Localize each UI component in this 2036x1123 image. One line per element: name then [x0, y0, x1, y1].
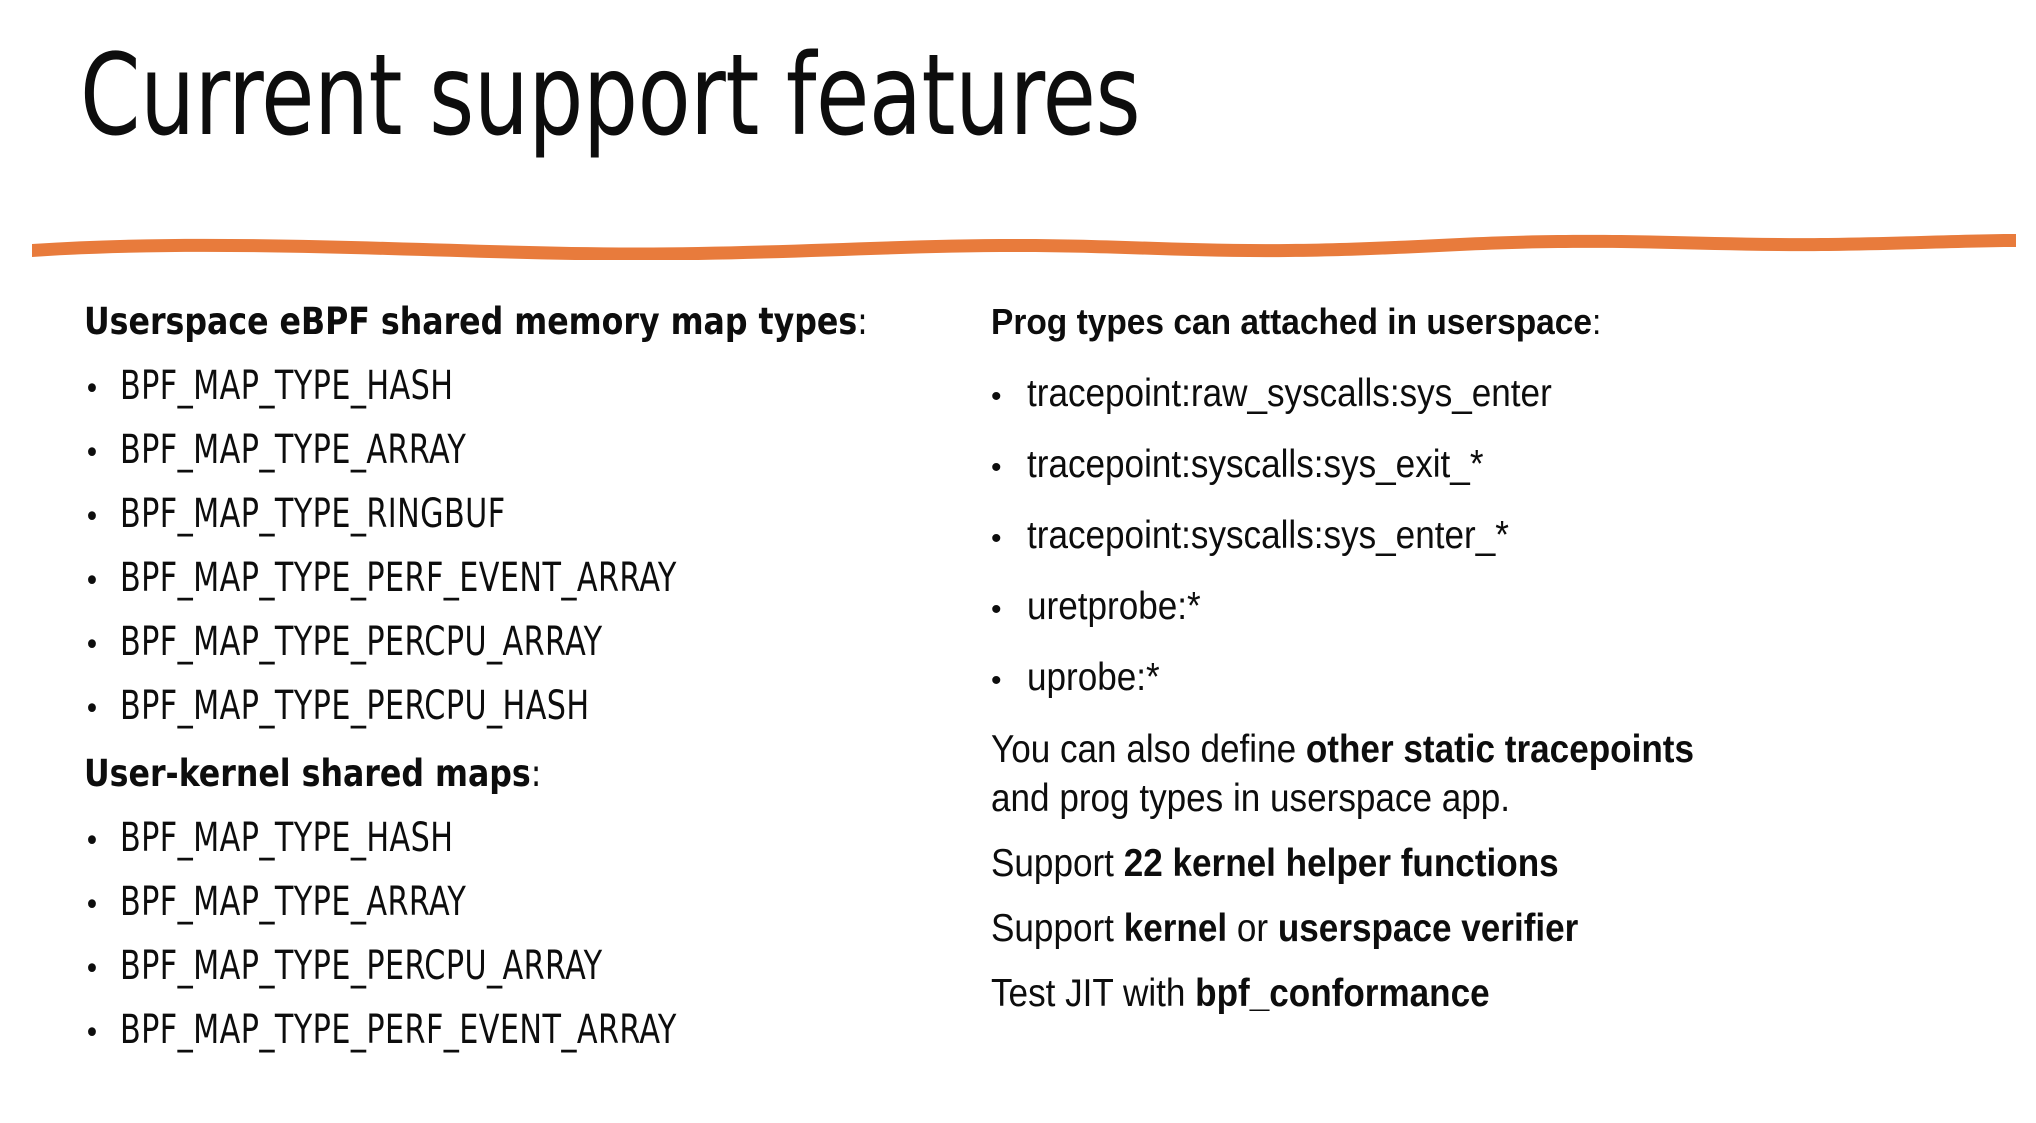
left-section-heading-1-text: Userspace eBPF shared memory map types: [84, 300, 857, 343]
body-text: Support: [991, 907, 1124, 950]
paragraph-static-tracepoints: You can also define other static tracepo…: [991, 725, 1751, 823]
list-item: • BPF_MAP_TYPE_HASH: [84, 354, 944, 418]
emphasis-text: userspace verifier: [1278, 907, 1579, 950]
list-item-label: BPF_MAP_TYPE_PERCPU_ARRAY: [120, 934, 602, 998]
slide-canvas: Current support features Userspace eBPF …: [0, 0, 2036, 1123]
paragraph-text: Test JIT with bpf_conformance: [991, 969, 1752, 1018]
paragraph-text: Support 22 kernel helper functions: [991, 839, 1752, 888]
list-item: • uretprobe:*: [991, 571, 1781, 642]
list-item-label: BPF_MAP_TYPE_PERF_EVENT_ARRAY: [120, 998, 677, 1062]
right-content-column: Prog types can attached in userspace: • …: [991, 300, 1781, 1018]
list-item-label: BPF_MAP_TYPE_HASH: [120, 354, 453, 418]
list-item-label: BPF_MAP_TYPE_ARRAY: [120, 418, 466, 482]
bullet-dot-icon: •: [84, 439, 120, 469]
emphasis-text: other static tracepoints: [1306, 728, 1694, 771]
paragraph-text: Support kernel or userspace verifier: [991, 904, 1752, 953]
bullet-dot-icon: •: [84, 827, 120, 857]
left-content-column: Userspace eBPF shared memory map types: …: [84, 300, 944, 1062]
list-item-label: tracepoint:raw_syscalls:sys_enter: [1027, 358, 1552, 429]
list-item: • BPF_MAP_TYPE_RINGBUF: [84, 482, 944, 546]
left-section-heading-2-colon: :: [531, 752, 542, 795]
list-item-label: BPF_MAP_TYPE_RINGBUF: [120, 482, 506, 546]
list-item: • uprobe:*: [991, 642, 1781, 713]
page-title: Current support features: [80, 34, 1714, 159]
list-item: • tracepoint:raw_syscalls:sys_enter: [991, 358, 1781, 429]
bullet-dot-icon: •: [991, 453, 1027, 483]
body-text: or: [1227, 907, 1278, 950]
right-section-heading: Prog types can attached in userspace:: [991, 300, 1726, 344]
list-item: • BPF_MAP_TYPE_ARRAY: [84, 870, 944, 934]
bullet-dot-icon: •: [991, 382, 1027, 412]
bullet-dot-icon: •: [84, 891, 120, 921]
list-item: • BPF_MAP_TYPE_ARRAY: [84, 418, 944, 482]
list-item-label: tracepoint:syscalls:sys_exit_*: [1027, 429, 1483, 500]
list-item-label: BPF_MAP_TYPE_PERCPU_HASH: [120, 674, 590, 738]
list-item-label: tracepoint:syscalls:sys_enter_*: [1027, 500, 1509, 571]
bullet-dot-icon: •: [991, 595, 1027, 625]
list-item-label: BPF_MAP_TYPE_ARRAY: [120, 870, 466, 934]
paragraph-text: You can also define other static tracepo…: [991, 725, 1752, 823]
emphasis-text: bpf_conformance: [1195, 972, 1489, 1015]
right-section-heading-colon: :: [1592, 301, 1601, 342]
list-item-label: uretprobe:*: [1027, 571, 1201, 642]
list-item: • BPF_MAP_TYPE_PERF_EVENT_ARRAY: [84, 546, 944, 610]
list-item-label: BPF_MAP_TYPE_PERCPU_ARRAY: [120, 610, 602, 674]
bullet-dot-icon: •: [991, 666, 1027, 696]
left-section-heading-1-colon: :: [857, 300, 868, 343]
left-section-heading-2-text: User-kernel shared maps: [84, 752, 531, 795]
paragraph-helper-functions: Support 22 kernel helper functions: [991, 839, 1751, 888]
list-item-label: BPF_MAP_TYPE_HASH: [120, 806, 453, 870]
orange-wave-divider: [28, 214, 2020, 260]
bullet-dot-icon: •: [84, 375, 120, 405]
bullet-dot-icon: •: [84, 695, 120, 725]
list-item-label: uprobe:*: [1027, 642, 1160, 713]
left-section-heading-2: User-kernel shared maps:: [84, 752, 901, 796]
body-text: and prog types in userspace app.: [991, 777, 1510, 820]
right-section-heading-text: Prog types can attached in userspace: [991, 301, 1592, 342]
list-item: • BPF_MAP_TYPE_PERCPU_ARRAY: [84, 610, 944, 674]
body-text: Support: [991, 842, 1124, 885]
bullet-dot-icon: •: [84, 955, 120, 985]
body-text: Test JIT with: [991, 972, 1195, 1015]
list-item: • tracepoint:syscalls:sys_enter_*: [991, 500, 1781, 571]
left-section-heading-1: Userspace eBPF shared memory map types:: [84, 300, 901, 344]
list-item-label: BPF_MAP_TYPE_PERF_EVENT_ARRAY: [120, 546, 677, 610]
paragraph-jit-conformance: Test JIT with bpf_conformance: [991, 969, 1751, 1018]
list-item: • BPF_MAP_TYPE_PERCPU_ARRAY: [84, 934, 944, 998]
bullet-dot-icon: •: [84, 503, 120, 533]
bullet-dot-icon: •: [84, 1019, 120, 1049]
emphasis-text: kernel: [1124, 907, 1227, 950]
list-item: • BPF_MAP_TYPE_PERCPU_HASH: [84, 674, 944, 738]
bullet-dot-icon: •: [84, 567, 120, 597]
paragraph-verifier: Support kernel or userspace verifier: [991, 904, 1751, 953]
body-text: You can also define: [991, 728, 1306, 771]
bullet-dot-icon: •: [991, 524, 1027, 554]
list-item: • BPF_MAP_TYPE_HASH: [84, 806, 944, 870]
wave-path: [32, 234, 2016, 260]
emphasis-text: 22 kernel helper functions: [1124, 842, 1559, 885]
bullet-dot-icon: •: [84, 631, 120, 661]
list-item: • BPF_MAP_TYPE_PERF_EVENT_ARRAY: [84, 998, 944, 1062]
list-item: • tracepoint:syscalls:sys_exit_*: [991, 429, 1781, 500]
